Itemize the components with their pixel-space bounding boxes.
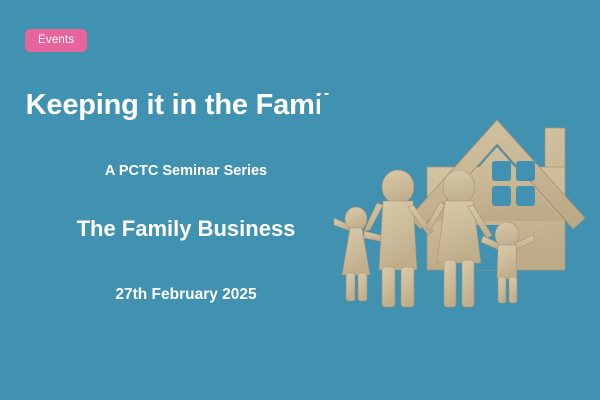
boy-leg-left <box>498 277 506 303</box>
boy-leg-right <box>509 277 517 303</box>
category-badge[interactable]: Events <box>25 29 87 52</box>
window-pane-bottom-right <box>516 186 535 206</box>
category-badge-label: Events <box>38 35 74 47</box>
banner-text-column: Keeping it in the Family A PCTC Seminar … <box>0 90 372 303</box>
event-date-label: 27th February 2025 <box>0 286 372 303</box>
window-pane-top-right <box>516 161 535 181</box>
window-pane-top-left <box>492 161 511 181</box>
father-head <box>382 170 414 204</box>
girl-leg-left <box>346 273 355 301</box>
mother-leg-left <box>444 260 456 307</box>
mother-leg-right <box>462 260 474 307</box>
mother-head <box>443 170 475 204</box>
event-subject-label: The Family Business <box>0 217 372 241</box>
girl-leg-right <box>358 273 367 301</box>
father-leg-right <box>401 267 414 307</box>
event-banner: Events Keeping it in the Family A PCTC S… <box>0 0 600 400</box>
father-leg-left <box>382 267 395 307</box>
event-series-label: A PCTC Seminar Series <box>0 164 372 180</box>
boy-head <box>495 222 519 248</box>
family-house-image <box>320 95 600 325</box>
page-title: Keeping it in the Family <box>0 90 372 122</box>
boy-torso <box>497 245 517 279</box>
girl-head <box>345 207 367 231</box>
window-pane-bottom-left <box>492 186 511 206</box>
